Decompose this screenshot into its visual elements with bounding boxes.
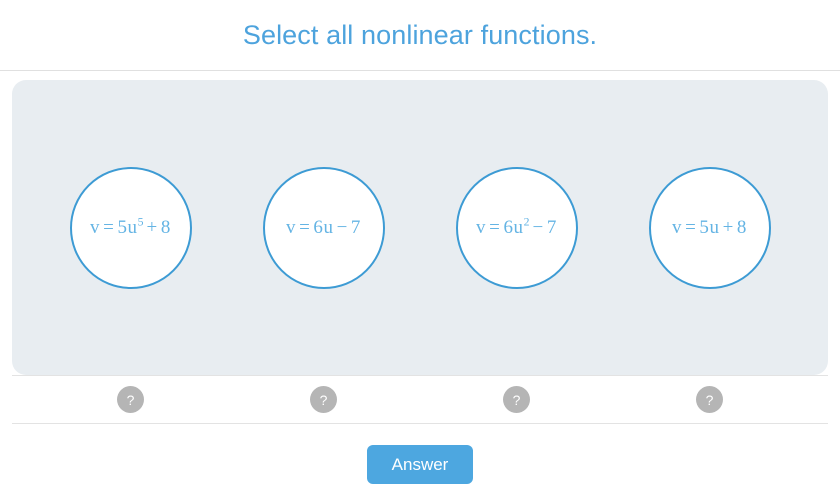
- choice-option-4[interactable]: v=5u+8: [649, 167, 771, 289]
- formula-term: 6u: [313, 217, 333, 238]
- formula-operator: +: [720, 217, 737, 238]
- formula-lhs: v: [672, 217, 682, 238]
- choice-option-2[interactable]: v=6u−7: [263, 167, 385, 289]
- choice-formula-4: v=5u+8: [672, 218, 747, 237]
- formula-exponent: 2: [524, 216, 530, 229]
- page-header: Select all nonlinear functions.: [0, 0, 840, 70]
- formula-lhs: v: [286, 217, 296, 238]
- formula-term: 5u: [699, 217, 719, 238]
- formula-constant: 7: [547, 217, 557, 238]
- hint-row: ? ? ? ?: [0, 376, 840, 423]
- formula-term: 5u: [117, 217, 137, 238]
- formula-operator: +: [144, 217, 161, 238]
- answer-button[interactable]: Answer: [367, 445, 474, 484]
- choice-option-3[interactable]: v=6u2−7: [456, 167, 578, 289]
- formula-operator: −: [334, 217, 351, 238]
- choice-option-1[interactable]: v=5u5+8: [70, 167, 192, 289]
- formula-lhs: v: [476, 217, 486, 238]
- hint-button-3[interactable]: ?: [503, 386, 530, 413]
- formula-lhs: v: [90, 217, 100, 238]
- formula-constant: 8: [737, 217, 747, 238]
- formula-term: 6u: [503, 217, 523, 238]
- choice-circle-row: v=5u5+8 v=6u−7 v=6u2−7 v=5u+8: [12, 80, 828, 375]
- formula-equals: =: [296, 217, 313, 238]
- answer-section: Answer: [0, 424, 840, 484]
- formula-equals: =: [682, 217, 699, 238]
- hint-button-2[interactable]: ?: [310, 386, 337, 413]
- choice-formula-3: v=6u2−7: [476, 218, 557, 237]
- hint-button-4[interactable]: ?: [696, 386, 723, 413]
- choices-panel: v=5u5+8 v=6u−7 v=6u2−7 v=5u+8: [12, 80, 828, 375]
- choice-formula-2: v=6u−7: [286, 218, 361, 237]
- formula-constant: 7: [351, 217, 361, 238]
- formula-exponent: 5: [138, 216, 144, 229]
- formula-operator: −: [530, 217, 547, 238]
- choice-formula-1: v=5u5+8: [90, 218, 171, 237]
- choices-section: v=5u5+8 v=6u−7 v=6u2−7 v=5u+8: [0, 71, 840, 375]
- hint-button-1[interactable]: ?: [117, 386, 144, 413]
- page-title: Select all nonlinear functions.: [243, 20, 597, 51]
- formula-equals: =: [486, 217, 503, 238]
- formula-constant: 8: [161, 217, 171, 238]
- formula-equals: =: [100, 217, 117, 238]
